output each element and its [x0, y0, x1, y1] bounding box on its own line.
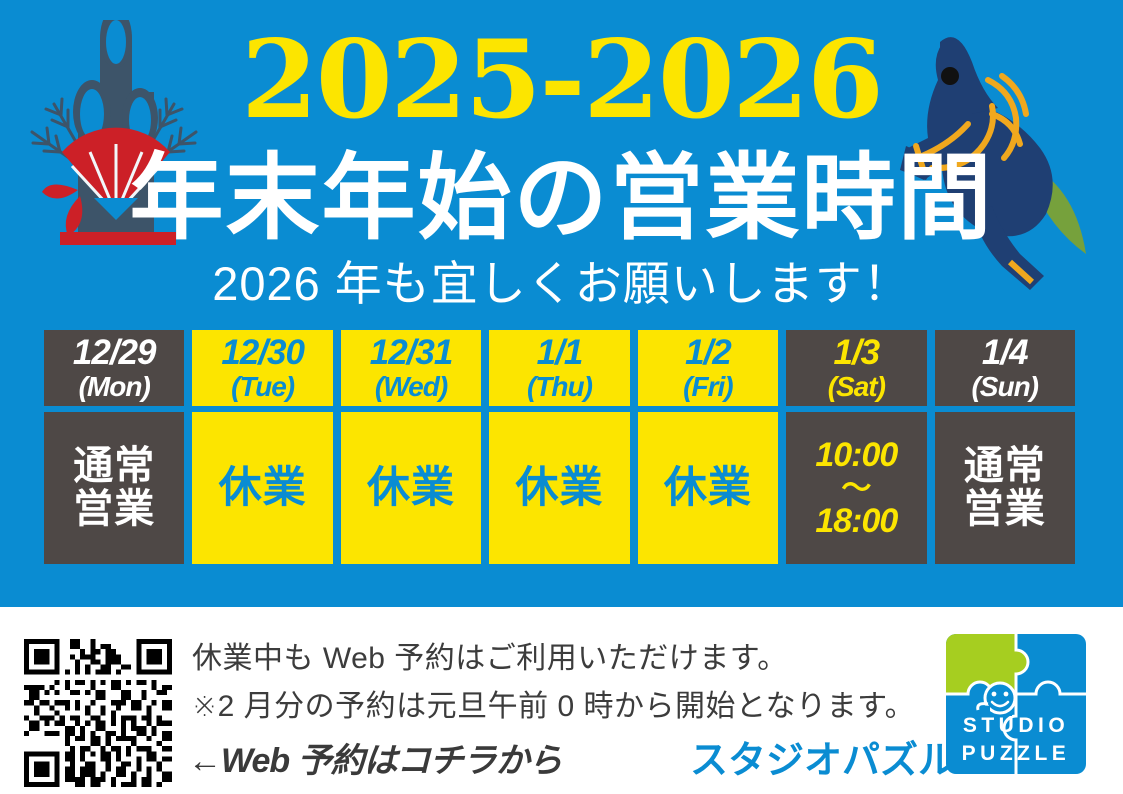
day-date: 12/29 [73, 335, 156, 370]
schedule-column: 1/1 (Thu) 休業 [489, 330, 629, 564]
qr-code-icon[interactable] [24, 639, 172, 787]
web-booking-cta[interactable]: ←Web 予約はコチラから [188, 733, 562, 782]
day-date: 1/2 [685, 335, 731, 370]
day-status: 通常 営業 [44, 412, 184, 564]
main-title: 年末年始の営業時間 [0, 148, 1123, 248]
schedule-column: 1/4 (Sun) 通常 営業 [935, 330, 1075, 564]
day-date: 1/1 [537, 335, 583, 370]
status-line-1: 休業 [664, 465, 752, 511]
status-line-1: 通常 [964, 445, 1046, 488]
schedule-column: 1/3 (Sat) 10:00 〜 18:00 [786, 330, 926, 564]
blue-background-panel: 2025-2026 年末年始の営業時間 2026 年も宜しくお願いします！ 12… [0, 0, 1123, 607]
status-line-1: 通常 [73, 445, 155, 488]
schedule-column: 12/31 (Wed) 休業 [341, 330, 481, 564]
day-date: 1/4 [982, 335, 1028, 370]
day-date: 12/31 [370, 335, 453, 370]
day-status: 休業 [638, 412, 778, 564]
studio-name-label: スタジオパズル [690, 729, 956, 784]
time-separator: 〜 [841, 475, 871, 502]
footer-notes: 休業中も Web 予約はご利用いただけます。 ※2 月分の予約は元旦午前 0 時… [192, 635, 752, 731]
day-header: 1/1 (Thu) [489, 330, 629, 406]
day-status: 通常 営業 [935, 412, 1075, 564]
day-of-week: (Wed) [375, 373, 447, 401]
day-header: 1/4 (Sun) [935, 330, 1075, 406]
logo-text-puzzle: PUZZLE [962, 742, 1071, 765]
day-header: 12/29 (Mon) [44, 330, 184, 406]
schedule-column: 12/29 (Mon) 通常 営業 [44, 330, 184, 564]
status-line-2: 営業 [73, 488, 155, 531]
day-date: 1/3 [833, 335, 879, 370]
day-of-week: (Thu) [527, 373, 592, 401]
footer-note-line-2: ※2 月分の予約は元旦午前 0 時から開始となります。 [192, 683, 752, 731]
new-year-hours-poster: 2025-2026 年末年始の営業時間 2026 年も宜しくお願いします！ 12… [0, 0, 1123, 794]
logo-text-studio: STUDIO [963, 714, 1069, 737]
status-line-1: 休業 [515, 465, 603, 511]
day-status: 休業 [192, 412, 332, 564]
day-of-week: (Fri) [683, 373, 732, 401]
day-status: 休業 [341, 412, 481, 564]
day-status: 10:00 〜 18:00 [786, 412, 926, 564]
status-line-2: 営業 [964, 488, 1046, 531]
status-line-1: 休業 [367, 465, 455, 511]
day-header: 12/31 (Wed) [341, 330, 481, 406]
schedule-table: 12/29 (Mon) 通常 営業 12/30 (Tue) 休業 [44, 330, 1075, 564]
open-time: 10:00 [815, 437, 897, 474]
day-of-week: (Sun) [971, 373, 1038, 401]
footer-panel: 休業中も Web 予約はご利用いただけます。 ※2 月分の予約は元旦午前 0 時… [0, 607, 1123, 794]
day-of-week: (Sat) [828, 373, 885, 401]
status-line-1: 休業 [219, 465, 307, 511]
day-status: 休業 [489, 412, 629, 564]
studio-puzzle-logo-icon: STUDIO PUZZLE [944, 632, 1088, 776]
schedule-column: 12/30 (Tue) 休業 [192, 330, 332, 564]
greeting-subtitle: 2026 年も宜しくお願いします！ [0, 256, 1123, 312]
day-date: 12/30 [221, 335, 304, 370]
day-of-week: (Tue) [231, 373, 294, 401]
day-header: 1/2 (Fri) [638, 330, 778, 406]
day-header: 12/30 (Tue) [192, 330, 332, 406]
day-of-week: (Mon) [79, 373, 150, 401]
schedule-column: 1/2 (Fri) 休業 [638, 330, 778, 564]
close-time: 18:00 [815, 503, 897, 540]
day-header: 1/3 (Sat) [786, 330, 926, 406]
footer-note-line-1: 休業中も Web 予約はご利用いただけます。 [192, 635, 752, 683]
